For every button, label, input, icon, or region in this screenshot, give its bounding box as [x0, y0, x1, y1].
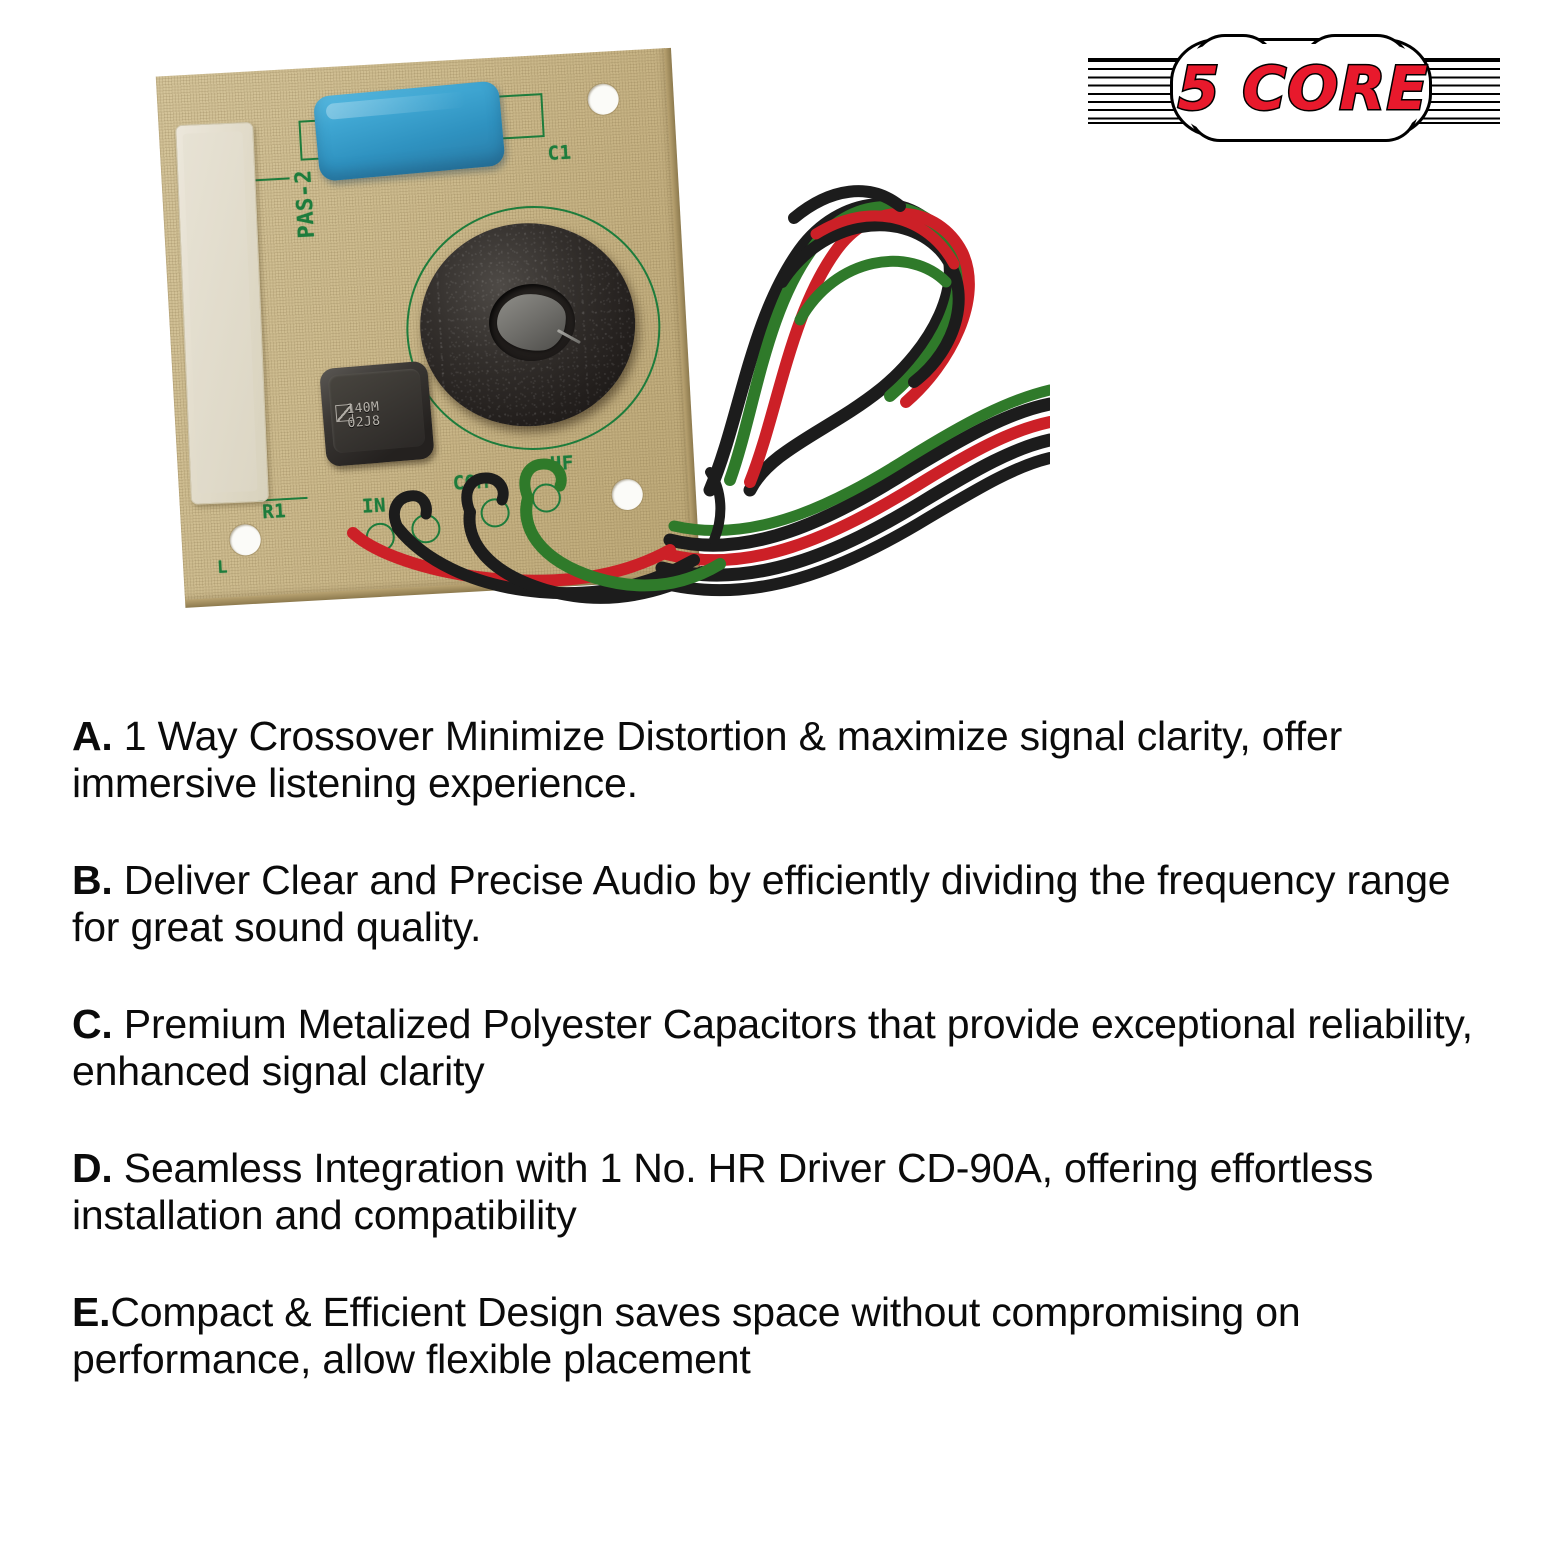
logo-wordmark: 5 CORE [1178, 52, 1428, 126]
brand-logo: 5 CORE [1088, 38, 1500, 138]
feature-item-b: B. Deliver Clear and Precise Audio by ef… [72, 857, 1484, 951]
feature-item-d: D. Seamless Integration with 1 No. HR Dr… [72, 1145, 1484, 1239]
feature-text-e: Compact & Efficient Design saves space w… [72, 1289, 1300, 1382]
feature-list: A. 1 Way Crossover Minimize Distortion &… [72, 672, 1484, 1383]
silk-label-r1: R1 [262, 500, 287, 523]
silk-label-board-code: PAS-2 [291, 169, 320, 239]
product-photo: C1 R1 PAS-2 IN COM HF L 140M 02J8 [110, 20, 1050, 640]
cement-resistor-r1 [175, 122, 269, 505]
feature-letter-c: C. [72, 1001, 113, 1047]
smd-choke-component: 140M 02J8 [319, 361, 435, 468]
feature-item-a: A. 1 Way Crossover Minimize Distortion &… [72, 713, 1484, 807]
feature-text-a: 1 Way Crossover Minimize Distortion & ma… [72, 713, 1342, 806]
feature-text-b: Deliver Clear and Precise Audio by effic… [72, 857, 1450, 950]
silk-label-in: IN [361, 494, 386, 517]
silk-label-com: COM [452, 471, 489, 495]
silk-label-hf: HF [549, 452, 574, 475]
feature-item-e: E.Compact & Efficient Design saves space… [72, 1289, 1484, 1383]
silk-label-corner-l: L [217, 557, 229, 578]
feature-letter-e: E. [72, 1289, 110, 1335]
choke-marking-line2: 02J8 [347, 415, 381, 432]
feature-item-c: C. Premium Metalized Polyester Capacitor… [72, 1001, 1484, 1095]
crossover-pcb: C1 R1 PAS-2 IN COM HF L 140M 02J8 [156, 48, 695, 601]
polyester-capacitor-c1 [313, 80, 506, 182]
silk-label-c1: C1 [547, 142, 572, 165]
feature-letter-a: A. [72, 713, 113, 759]
feature-letter-b: B. [72, 857, 113, 903]
feature-letter-d: D. [72, 1145, 113, 1191]
feature-text-d: Seamless Integration with 1 No. HR Drive… [72, 1145, 1373, 1238]
feature-text-c: Premium Metalized Polyester Capacitors t… [72, 1001, 1473, 1094]
